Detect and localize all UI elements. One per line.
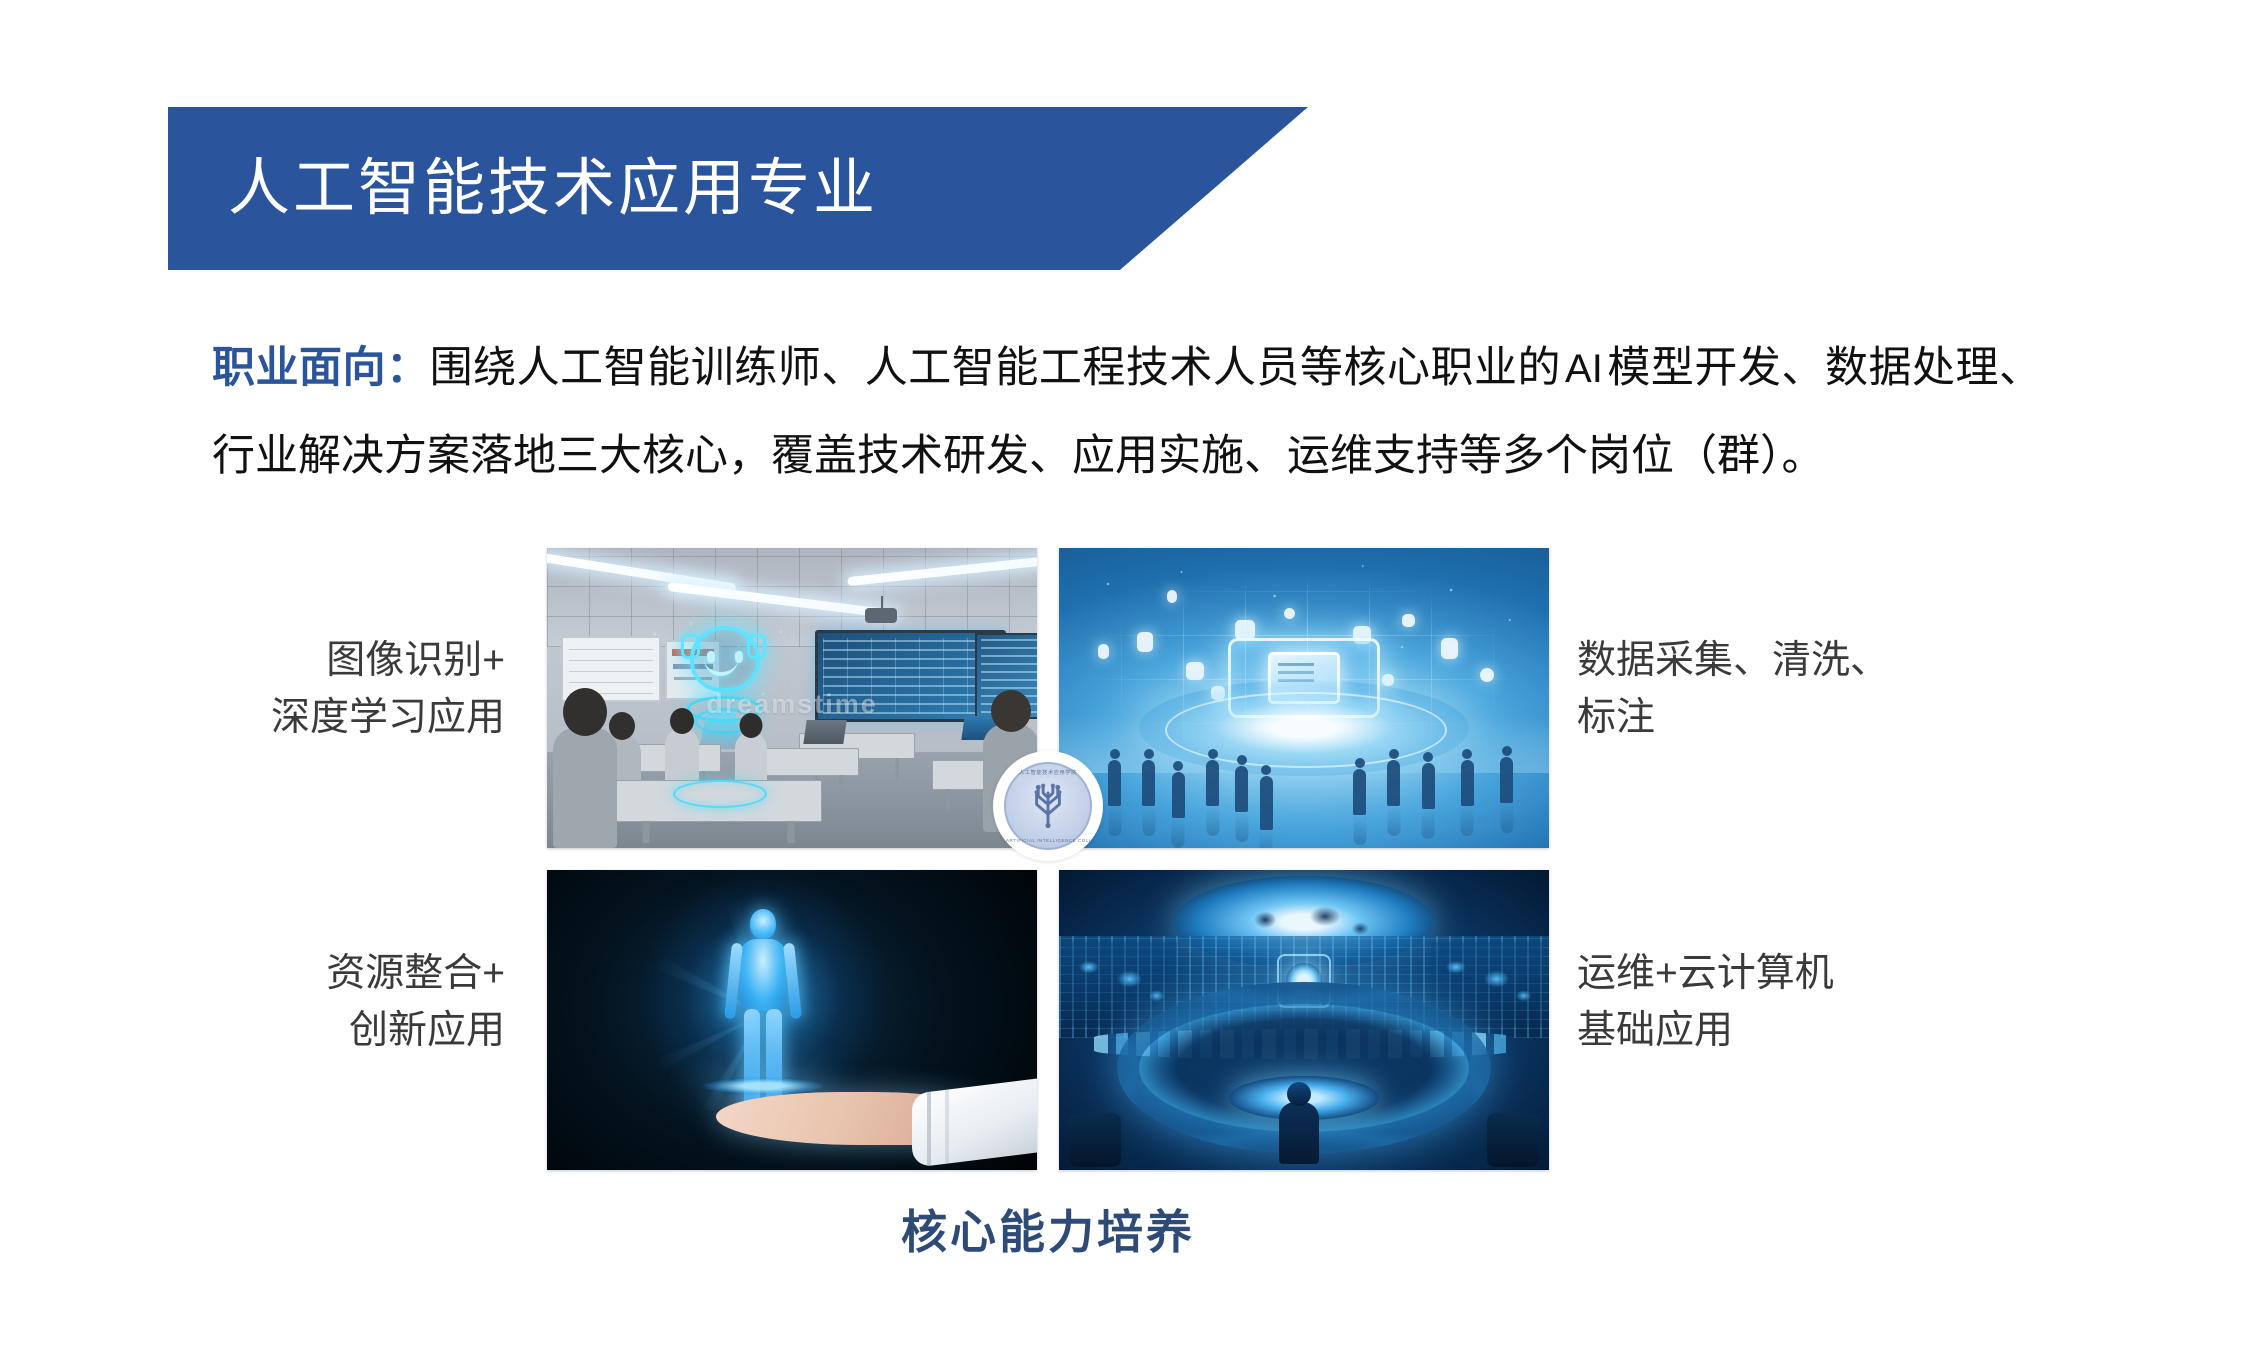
college-seal: 人工智能技术应用学院 [993, 751, 1103, 861]
student-head [991, 690, 1031, 732]
data-node [1441, 638, 1458, 659]
career-orientation-paragraph: 职业面向：围绕人工智能训练师、人工智能工程技术人员等核心职业的AI模型开发、数据… [212, 325, 2042, 501]
data-node [1167, 590, 1177, 603]
student-head [609, 712, 635, 740]
student [553, 728, 617, 848]
person-silhouette [1260, 776, 1273, 830]
person-silhouette [1461, 760, 1474, 806]
paragraph-inline-term: AI [1561, 347, 1607, 391]
title-banner: 人工智能技术应用专业 [168, 107, 1308, 270]
desk-hologram-interface [673, 780, 767, 808]
page-title: 人工智能技术应用专业 [228, 158, 878, 220]
student [665, 728, 699, 782]
photo-grid: dreamstime [547, 548, 1549, 1183]
data-node [1402, 614, 1415, 627]
student-head [670, 708, 694, 734]
photo-digital-data-scene [1059, 548, 1549, 848]
paragraph-text-part-1: 围绕人工智能训练师、人工智能工程技术人员等核心职业的 [430, 345, 1561, 392]
photo-control-room [1059, 870, 1549, 1170]
label-image-recognition: 图像识别+ 深度学习应用 [85, 632, 505, 746]
operator-chair [1069, 1113, 1121, 1167]
person-silhouette [1235, 766, 1248, 812]
robot-ear [681, 634, 700, 659]
person-silhouette [1500, 757, 1513, 803]
person-silhouette [1353, 769, 1366, 815]
student [735, 732, 767, 784]
open-hand [694, 1044, 1037, 1164]
person-silhouette [1142, 760, 1155, 806]
hologram-scene [547, 870, 1037, 1170]
data-node [1098, 644, 1109, 659]
person-silhouette [1172, 772, 1185, 818]
data-scene [1059, 548, 1549, 848]
seal-bottom-text: ARTIFICIAL INTELLIGENCE COLLEGE [1006, 838, 1090, 843]
data-node [1235, 620, 1255, 640]
brain-circuit-icon [1022, 780, 1074, 832]
photo-smart-classroom: dreamstime [547, 548, 1037, 848]
figure-caption: 核心能力培养 [547, 1196, 1549, 1262]
slide-canvas: 人工智能技术应用专业 职业面向：围绕人工智能训练师、人工智能工程技术人员等核心职… [0, 0, 2245, 1366]
student-head [740, 713, 763, 738]
figure-head [750, 909, 776, 939]
label-ops-cloud: 运维+云计算机 基础应用 [1577, 945, 2007, 1059]
figure-torso [740, 939, 786, 1011]
person-silhouette [1387, 760, 1400, 806]
label-data-collection: 数据采集、清洗、 标注 [1577, 632, 2007, 746]
laptop [803, 720, 846, 744]
ceiling-speaker [865, 608, 897, 623]
glowing-platform [1139, 680, 1469, 776]
control-room-scene [1059, 870, 1549, 1170]
data-node [1382, 674, 1394, 686]
data-node [1137, 632, 1153, 652]
person-silhouette [1108, 760, 1121, 806]
operator-silhouette [1279, 1102, 1319, 1164]
person-silhouette [1206, 760, 1219, 806]
operator-chair [1487, 1113, 1539, 1167]
seal-disc: 人工智能技术应用学院 [1004, 762, 1092, 850]
paragraph-lead-label: 职业面向： [212, 345, 430, 392]
person-silhouette [1422, 763, 1435, 809]
data-node [1186, 662, 1204, 680]
photo-hologram-human [547, 870, 1037, 1170]
classroom-scene: dreamstime [547, 548, 1037, 848]
seal-top-text: 人工智能技术应用学院 [1006, 769, 1090, 776]
shirt-cuff [912, 1076, 1037, 1168]
student-head [563, 688, 607, 736]
robot-ear [747, 634, 766, 659]
label-resource-integration: 资源整合+ 创新应用 [85, 945, 505, 1059]
core-ability-figure: 图像识别+ 深度学习应用 资源整合+ 创新应用 数据采集、清洗、 标注 运维+云… [280, 548, 1920, 1268]
